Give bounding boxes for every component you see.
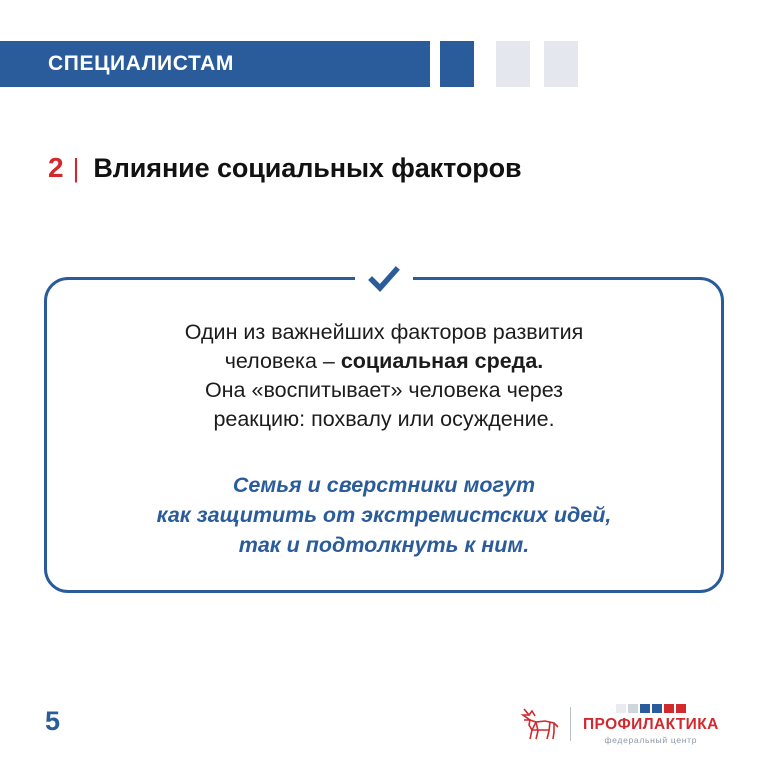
header-block-blue [440, 41, 474, 87]
logo-square-4 [652, 704, 662, 713]
header-block-grey-1 [496, 41, 530, 87]
paragraph-line-2-bold: социальная среда. [341, 349, 543, 373]
logo-square-2 [628, 704, 638, 713]
logo-square-3 [640, 704, 650, 713]
logo-text-group: ПРОФИЛАКТИКА федеральный центр [583, 704, 719, 745]
logo-square-6 [676, 704, 686, 713]
logo-divider [570, 707, 571, 741]
card-accent-paragraph: Семья и сверстники могут как защитить от… [157, 470, 612, 560]
paragraph-line-1: Один из важнейших факторов развития [185, 320, 583, 344]
logo-name: ПРОФИЛАКТИКА [583, 716, 719, 733]
header-title-bar: СПЕЦИАЛИСТАМ [0, 41, 430, 87]
paragraph-line-2-prefix: человека – [225, 349, 341, 373]
header-title-label: СПЕЦИАЛИСТАМ [48, 52, 234, 76]
deer-icon [516, 703, 562, 745]
content-card: Один из важнейших факторов развития чело… [44, 277, 724, 593]
logo-squares [616, 704, 686, 713]
logo-square-5 [664, 704, 674, 713]
paragraph-line-3: Она «воспитывает» человека через [205, 378, 563, 402]
card-paragraph: Один из важнейших факторов развития чело… [185, 318, 583, 434]
paragraph-line-4: реакцию: похвалу или осуждение. [213, 407, 554, 431]
footer-logo: ПРОФИЛАКТИКА федеральный центр [516, 700, 726, 748]
section-title: 2 | Влияние социальных факторов [48, 152, 522, 184]
accent-line-3: так и подтолкнуть к ним. [239, 533, 530, 557]
page-header: СПЕЦИАЛИСТАМ [0, 41, 768, 87]
section-title-separator: | [73, 153, 80, 184]
page-number: 5 [45, 706, 60, 737]
section-number: 2 [48, 152, 64, 184]
accent-line-2: как защитить от экстремистских идей, [157, 503, 612, 527]
card-content: Один из важнейших факторов развития чело… [47, 280, 721, 590]
section-title-text: Влияние социальных факторов [93, 153, 521, 184]
header-block-grey-2 [544, 41, 578, 87]
logo-square-1 [616, 704, 626, 713]
logo-subtitle: федеральный центр [604, 735, 697, 745]
accent-line-1: Семья и сверстники могут [233, 473, 535, 497]
